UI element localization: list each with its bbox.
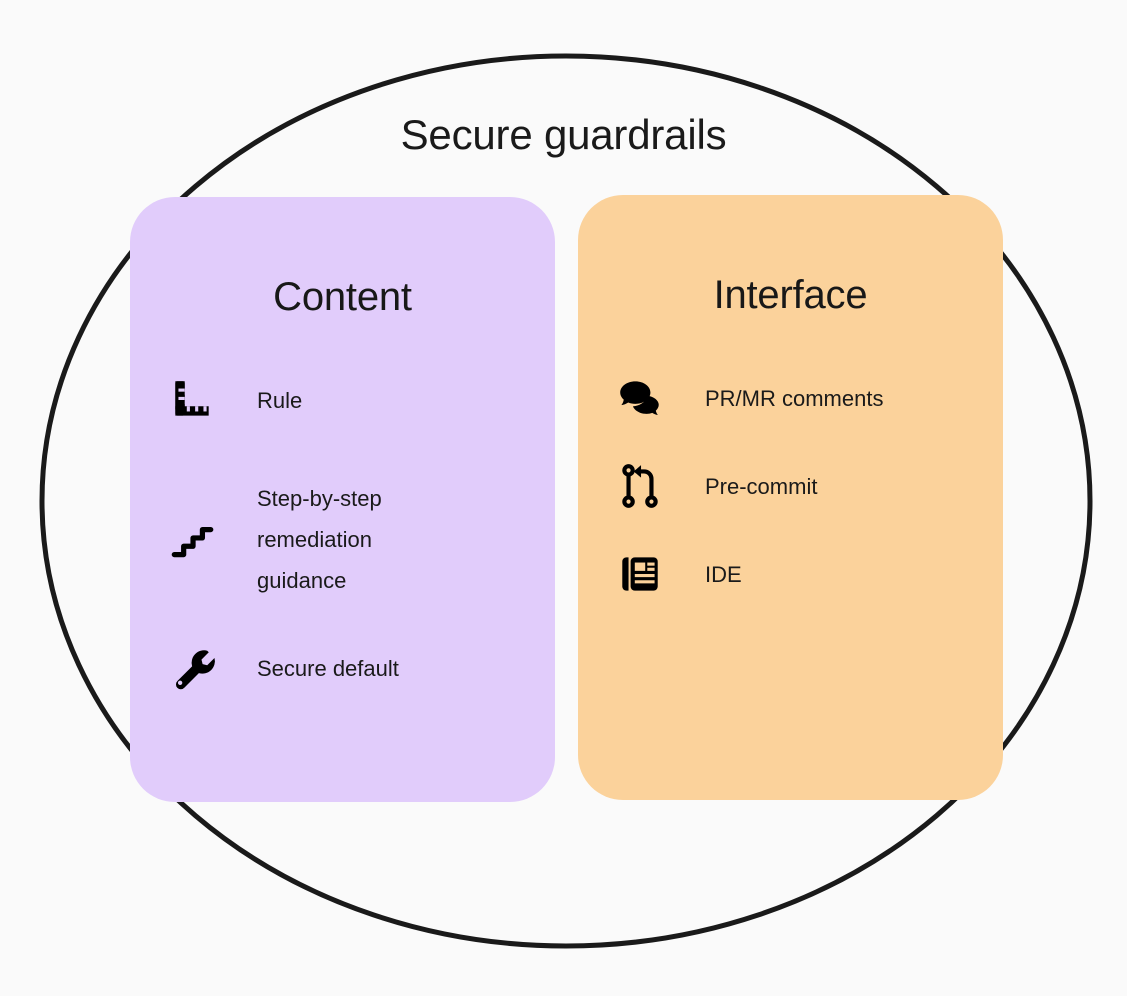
list-item-label: IDE bbox=[705, 554, 742, 595]
comments-icon bbox=[613, 371, 667, 425]
list-item-label: Step-by-step remediation guidance bbox=[257, 478, 382, 601]
list-item-label: Rule bbox=[257, 380, 302, 421]
list-item[interactable]: Rule bbox=[165, 373, 535, 427]
panel-content[interactable]: Content Rule bbox=[130, 197, 555, 802]
list-item[interactable]: PR/MR comments bbox=[613, 371, 983, 425]
list-item[interactable]: Pre-commit bbox=[613, 459, 983, 513]
list-item-label: PR/MR comments bbox=[705, 378, 883, 419]
panel-interface-title: Interface bbox=[578, 273, 1003, 318]
wrench-icon bbox=[165, 641, 219, 695]
ide-window-icon bbox=[613, 547, 667, 601]
git-branch-icon bbox=[613, 459, 667, 513]
panel-interface[interactable]: Interface PR/MR comments bbox=[578, 195, 1003, 800]
stairs-icon bbox=[165, 513, 219, 567]
panel-content-title: Content bbox=[130, 275, 555, 320]
list-item[interactable]: Secure default bbox=[165, 641, 535, 695]
list-item[interactable]: IDE bbox=[613, 547, 983, 601]
list-item-label: Secure default bbox=[257, 648, 399, 689]
ruler-square-icon bbox=[165, 373, 219, 427]
secure-guardrails-diagram: Secure guardrails Content bbox=[0, 0, 1127, 996]
list-item-label: Pre-commit bbox=[705, 466, 817, 507]
list-item[interactable]: Step-by-step remediation guidance bbox=[165, 478, 535, 601]
diagram-title: Secure guardrails bbox=[0, 112, 1127, 158]
